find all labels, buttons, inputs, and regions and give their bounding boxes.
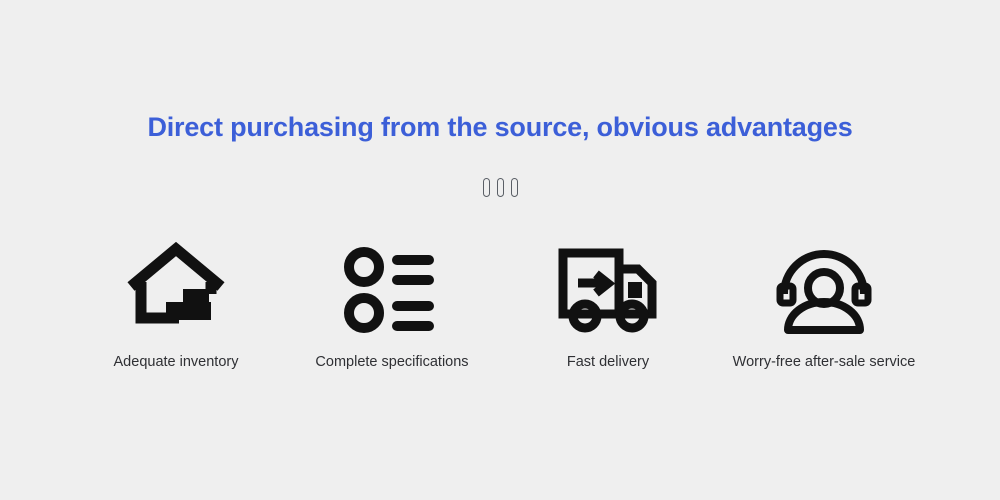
specification-list-icon bbox=[342, 240, 442, 340]
delivery-truck-icon bbox=[556, 240, 660, 340]
feature-label: Fast delivery bbox=[567, 354, 649, 370]
divider-pip-1 bbox=[483, 178, 490, 197]
divider-pip-2 bbox=[497, 178, 504, 197]
feature-item-delivery: Fast delivery bbox=[500, 240, 716, 370]
page-title: Direct purchasing from the source, obvio… bbox=[0, 112, 1000, 143]
feature-item-specifications: Complete specifications bbox=[284, 240, 500, 370]
feature-label: Worry-free after-sale service bbox=[733, 354, 916, 370]
feature-item-inventory: Adequate inventory bbox=[68, 240, 284, 370]
feature-label: Adequate inventory bbox=[114, 354, 239, 370]
feature-label: Complete specifications bbox=[315, 354, 468, 370]
feature-list: Adequate inventory Complete specificatio… bbox=[0, 240, 1000, 370]
customer-service-headset-icon bbox=[774, 240, 874, 340]
divider-pip-3 bbox=[511, 178, 518, 197]
feature-item-after-sale-service: Worry-free after-sale service bbox=[716, 240, 932, 370]
warehouse-icon bbox=[126, 240, 226, 340]
promo-banner: Direct purchasing from the source, obvio… bbox=[0, 0, 1000, 500]
three-pip-divider bbox=[0, 178, 1000, 197]
